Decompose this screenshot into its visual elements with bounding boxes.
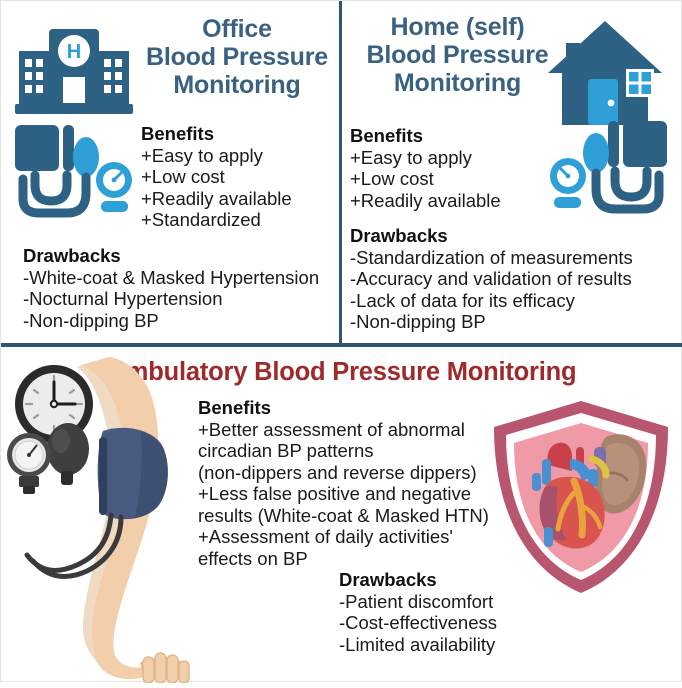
- svg-text:H: H: [67, 41, 81, 63]
- drawback-item: -Limited availability: [339, 634, 497, 655]
- benefit-item: +Readily available: [141, 188, 292, 209]
- benefit-item: +Easy to apply: [141, 145, 292, 166]
- home-benefits-block: Benefits +Easy to apply +Low cost +Readi…: [350, 125, 501, 211]
- benefit-item: +Assessment of daily activities': [198, 526, 489, 547]
- drawbacks-header: Drawbacks: [339, 569, 497, 591]
- sphygmomanometer-icon: [13, 123, 133, 227]
- benefit-item: +Low cost: [141, 166, 292, 187]
- benefit-item: (non-dippers and reverse dippers): [198, 462, 489, 483]
- drawback-item: -Nocturnal Hypertension: [23, 288, 319, 309]
- drawback-item: -White-coat & Masked Hypertension: [23, 267, 319, 288]
- benefit-item: +Low cost: [350, 168, 501, 189]
- benefit-item: circadian BP patterns: [198, 440, 489, 461]
- title-line: Blood Pressure: [350, 41, 565, 69]
- panel-home: Home (self) Blood Pressure Monitoring: [342, 1, 682, 343]
- heart-kidney-shield-illustration: [488, 397, 674, 597]
- drawbacks-header: Drawbacks: [350, 225, 633, 247]
- arm-with-bp-cuff-illustration: [3, 357, 213, 683]
- benefit-item: effects on BP: [198, 548, 489, 569]
- title-line: Monitoring: [139, 71, 335, 99]
- benefits-header: Benefits: [350, 125, 501, 147]
- benefit-item: +Less false positive and negative: [198, 483, 489, 504]
- hospital-icon: H: [15, 19, 133, 119]
- panel-office: H Office Blood Pressure Monitoring: [1, 1, 342, 343]
- drawback-item: -Non-dipping BP: [23, 310, 319, 331]
- benefits-header: Benefits: [198, 397, 489, 419]
- ambulatory-benefits-block: Benefits +Better assessment of abnormal …: [198, 397, 489, 569]
- title-line: Blood Pressure: [139, 43, 335, 71]
- benefit-item: results (White-coat & Masked HTN): [198, 505, 489, 526]
- house-icon: [544, 17, 666, 129]
- top-row: H Office Blood Pressure Monitoring: [1, 1, 682, 343]
- drawback-item: -Standardization of measurements: [350, 247, 633, 268]
- drawbacks-header: Drawbacks: [23, 245, 319, 267]
- benefit-item: +Readily available: [350, 190, 501, 211]
- panel-ambulatory: Ambulatory Blood Pressure Monitoring: [1, 343, 682, 683]
- home-drawbacks-block: Drawbacks -Standardization of measuremen…: [350, 225, 633, 333]
- drawback-item: -Cost-effectiveness: [339, 612, 497, 633]
- drawback-item: -Accuracy and validation of results: [350, 268, 633, 289]
- title-line: Home (self): [350, 13, 565, 41]
- title-line: Office: [139, 15, 335, 43]
- drawback-item: -Non-dipping BP: [350, 311, 633, 332]
- page-title-home: Home (self) Blood Pressure Monitoring: [350, 13, 565, 97]
- infographic-root: H Office Blood Pressure Monitoring: [0, 0, 682, 682]
- drawback-item: -Patient discomfort: [339, 591, 497, 612]
- office-benefits-block: Benefits +Easy to apply +Low cost +Readi…: [141, 123, 292, 231]
- sphygmomanometer-icon: [549, 119, 669, 223]
- benefit-item: +Easy to apply: [350, 147, 501, 168]
- benefits-header: Benefits: [141, 123, 292, 145]
- office-drawbacks-block: Drawbacks -White-coat & Masked Hypertens…: [23, 245, 319, 331]
- drawback-item: -Lack of data for its efficacy: [350, 290, 633, 311]
- benefit-item: +Better assessment of abnormal: [198, 419, 489, 440]
- benefit-item: +Standardized: [141, 209, 292, 230]
- title-line: Monitoring: [350, 69, 565, 97]
- page-title-office: Office Blood Pressure Monitoring: [139, 15, 335, 99]
- ambulatory-drawbacks-block: Drawbacks -Patient discomfort -Cost-effe…: [339, 569, 497, 655]
